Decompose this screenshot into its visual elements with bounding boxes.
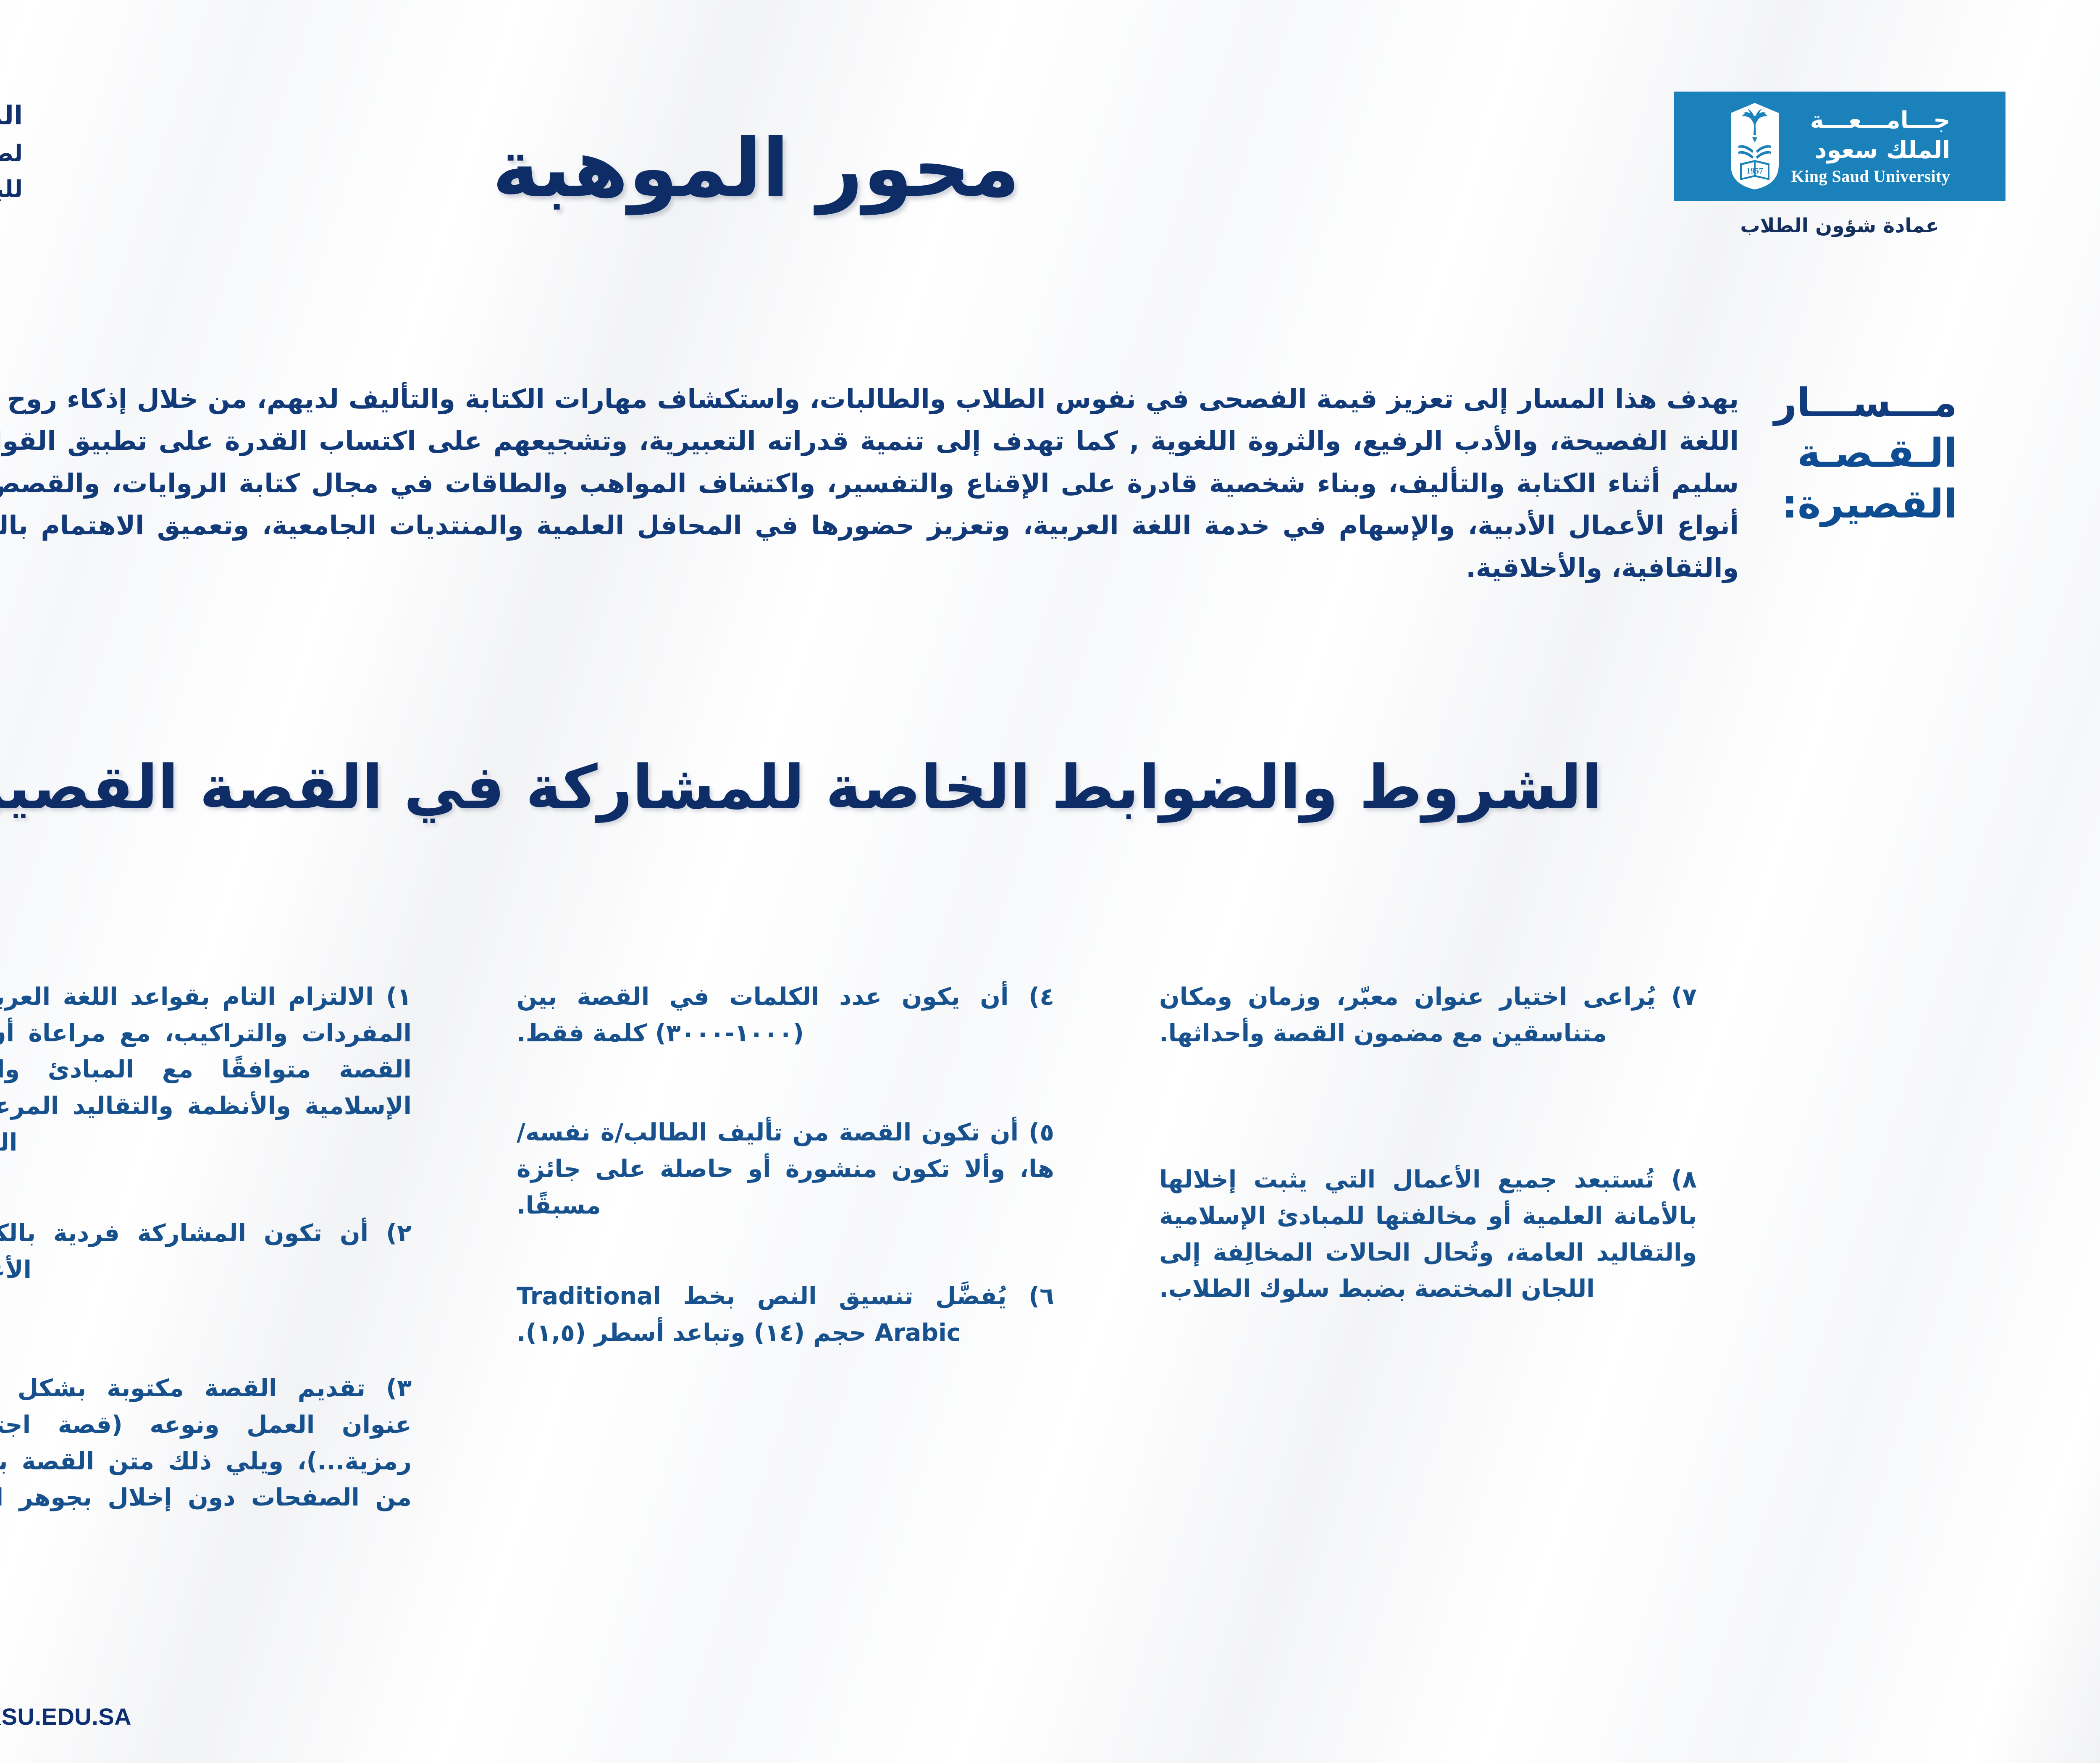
ksu-shield-year: 1957 (1746, 166, 1763, 176)
intro-paragraph: يهدف هذا المسار إلى تعزيز قيمة الفصحى في… (0, 378, 1739, 589)
intro-section: مـــســـار الـقـصـة القصيرة: يهدف هذا ال… (0, 378, 2100, 589)
ksu-logo-wordmark: جـــامـــعـــة الملك سعود King Saud Univ… (1791, 105, 1950, 187)
condition-item-3: ٣) تقديم القصة مكتوبة بشكل واضح، متضمنة … (0, 1370, 412, 1552)
ksu-shield-icon: 1957 (1729, 102, 1780, 190)
email-address[interactable]: SSFKSU@KSU.EDU.SA (0, 1703, 131, 1730)
page-header: الملتقى العلمي 16 لطلاب وطالبات جامعة ال… (0, 0, 2100, 294)
condition-item-2: ٢) أن تكون المشاركة فردية بالكامل، ولا ت… (0, 1215, 412, 1288)
condition-item-6: ٦) يُفضَّل تنسيق النص بخط Traditional Ar… (517, 1278, 1054, 1351)
footer-social-bar: @SSS_KSU @SFKSU SSFKSU@KSU.EDU.SA (0, 1703, 141, 1730)
track-label-line-2: الـقـصـة (1739, 428, 1957, 479)
condition-item-7: ٧) يُراعى اختيار عنوان معبّر، وزمان ومكا… (1159, 979, 1697, 1051)
ksu-english-name: King Saud University (1791, 166, 1950, 187)
ksu-deanship-label: عمادة شؤون الطلاب (1740, 214, 1939, 237)
ksu-logo-card: جـــامـــعـــة الملك سعود King Saud Univ… (1674, 92, 2005, 201)
track-label-line-3: القصيرة: (1739, 479, 1957, 530)
ksu-arabic-line-2: الملك سعود (1791, 135, 1950, 166)
conditions-column-right: ١) الالتزام التام بقواعد اللغة العربية ا… (0, 979, 412, 1553)
track-label-line-1: مـــســـار (1739, 378, 1957, 428)
conditions-column-middle: ٤) أن يكون عدد الكلمات في القصة بين (١٠٠… (517, 979, 1054, 1553)
conditions-columns: ٧) يُراعى اختيار عنوان معبّر، وزمان ومكا… (0, 979, 2100, 1553)
condition-item-8: ٨) تُستبعد جميع الأعمال التي يثبت إخلاله… (1159, 1161, 1697, 1307)
conditions-column-left: ٧) يُراعى اختيار عنوان معبّر، وزمان ومكا… (1159, 979, 1697, 1553)
condition-item-5: ٥) أن تكون القصة من تأليف الطالب/ة نفسه/… (517, 1114, 1054, 1224)
ksu-logo: جـــامـــعـــة الملك سعود King Saud Univ… (1655, 92, 2024, 237)
condition-item-1: ١) الالتزام التام بقواعد اللغة العربية ا… (0, 979, 412, 1161)
condition-item-4: ٤) أن يكون عدد الكلمات في القصة بين (١٠٠… (517, 979, 1054, 1051)
track-label: مـــســـار الـقـصـة القصيرة: (1739, 378, 1957, 589)
conditions-heading: الشروط والضوابط الخاصة للمشاركة في القصة… (0, 752, 2100, 822)
ksu-arabic-line-1: جـــامـــعـــة (1791, 105, 1950, 136)
